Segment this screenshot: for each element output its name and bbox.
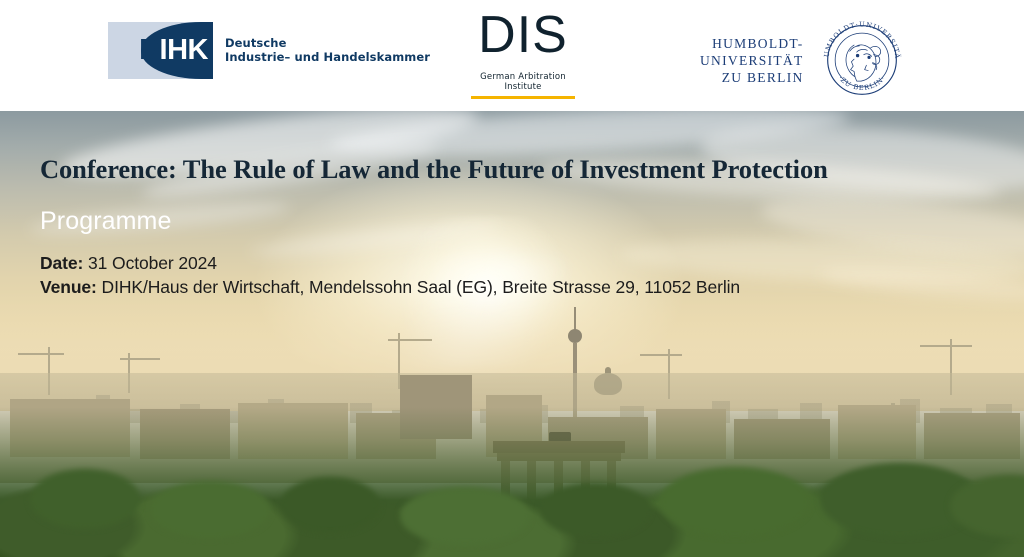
dis-logo: DIS German Arbitration Institute	[463, 8, 583, 99]
humboldt-logo: HUMBOLDT- UNIVERSITÄT ZU BERLIN HUMBOLDT…	[700, 16, 906, 104]
dihk-full-name: Deutsche Industrie– und Handelskammer	[225, 37, 430, 64]
date-label: Date:	[40, 253, 83, 273]
humboldt-seal-icon: HUMBOLDT·UNIVERSITÄT ·ZU BERLIN·	[818, 16, 906, 104]
dihk-wordmark-d: D	[139, 34, 159, 67]
hero-text-overlay: Conference: The Rule of Law and the Futu…	[0, 111, 1024, 557]
conference-programme-page: DIHK Deutsche Industrie– und Handelskamm…	[0, 0, 1024, 557]
dis-subtitle: German Arbitration Institute	[463, 72, 583, 92]
dihk-logo-mark: DIHK	[108, 22, 213, 79]
programme-heading: Programme	[40, 207, 172, 236]
event-date-row: Date: 31 October 2024	[40, 251, 740, 275]
svg-text:HUMBOLDT·UNIVERSITÄT: HUMBOLDT·UNIVERSITÄT	[818, 16, 902, 59]
event-venue-row: Venue: DIHK/Haus der Wirtschaft, Mendels…	[40, 275, 740, 299]
event-meta: Date: 31 October 2024 Venue: DIHK/Haus d…	[40, 251, 740, 299]
venue-label: Venue:	[40, 277, 97, 297]
venue-value: DIHK/Haus der Wirtschaft, Mendelssohn Sa…	[102, 277, 740, 297]
dis-wordmark: DIS	[463, 8, 583, 62]
dis-gold-rule	[471, 96, 575, 99]
date-value: 31 October 2024	[88, 253, 217, 273]
humboldt-name: HUMBOLDT- UNIVERSITÄT ZU BERLIN	[700, 35, 804, 86]
logo-header-bar: DIHK Deutsche Industrie– und Handelskamm…	[0, 0, 1024, 111]
dihk-wordmark: DIHK	[108, 22, 213, 79]
dihk-logo: DIHK Deutsche Industrie– und Handelskamm…	[108, 22, 430, 79]
page-title: Conference: The Rule of Law and the Futu…	[40, 154, 828, 184]
hero-photo-banner: Conference: The Rule of Law and the Futu…	[0, 111, 1024, 557]
dihk-wordmark-rest: IHK	[160, 34, 208, 67]
